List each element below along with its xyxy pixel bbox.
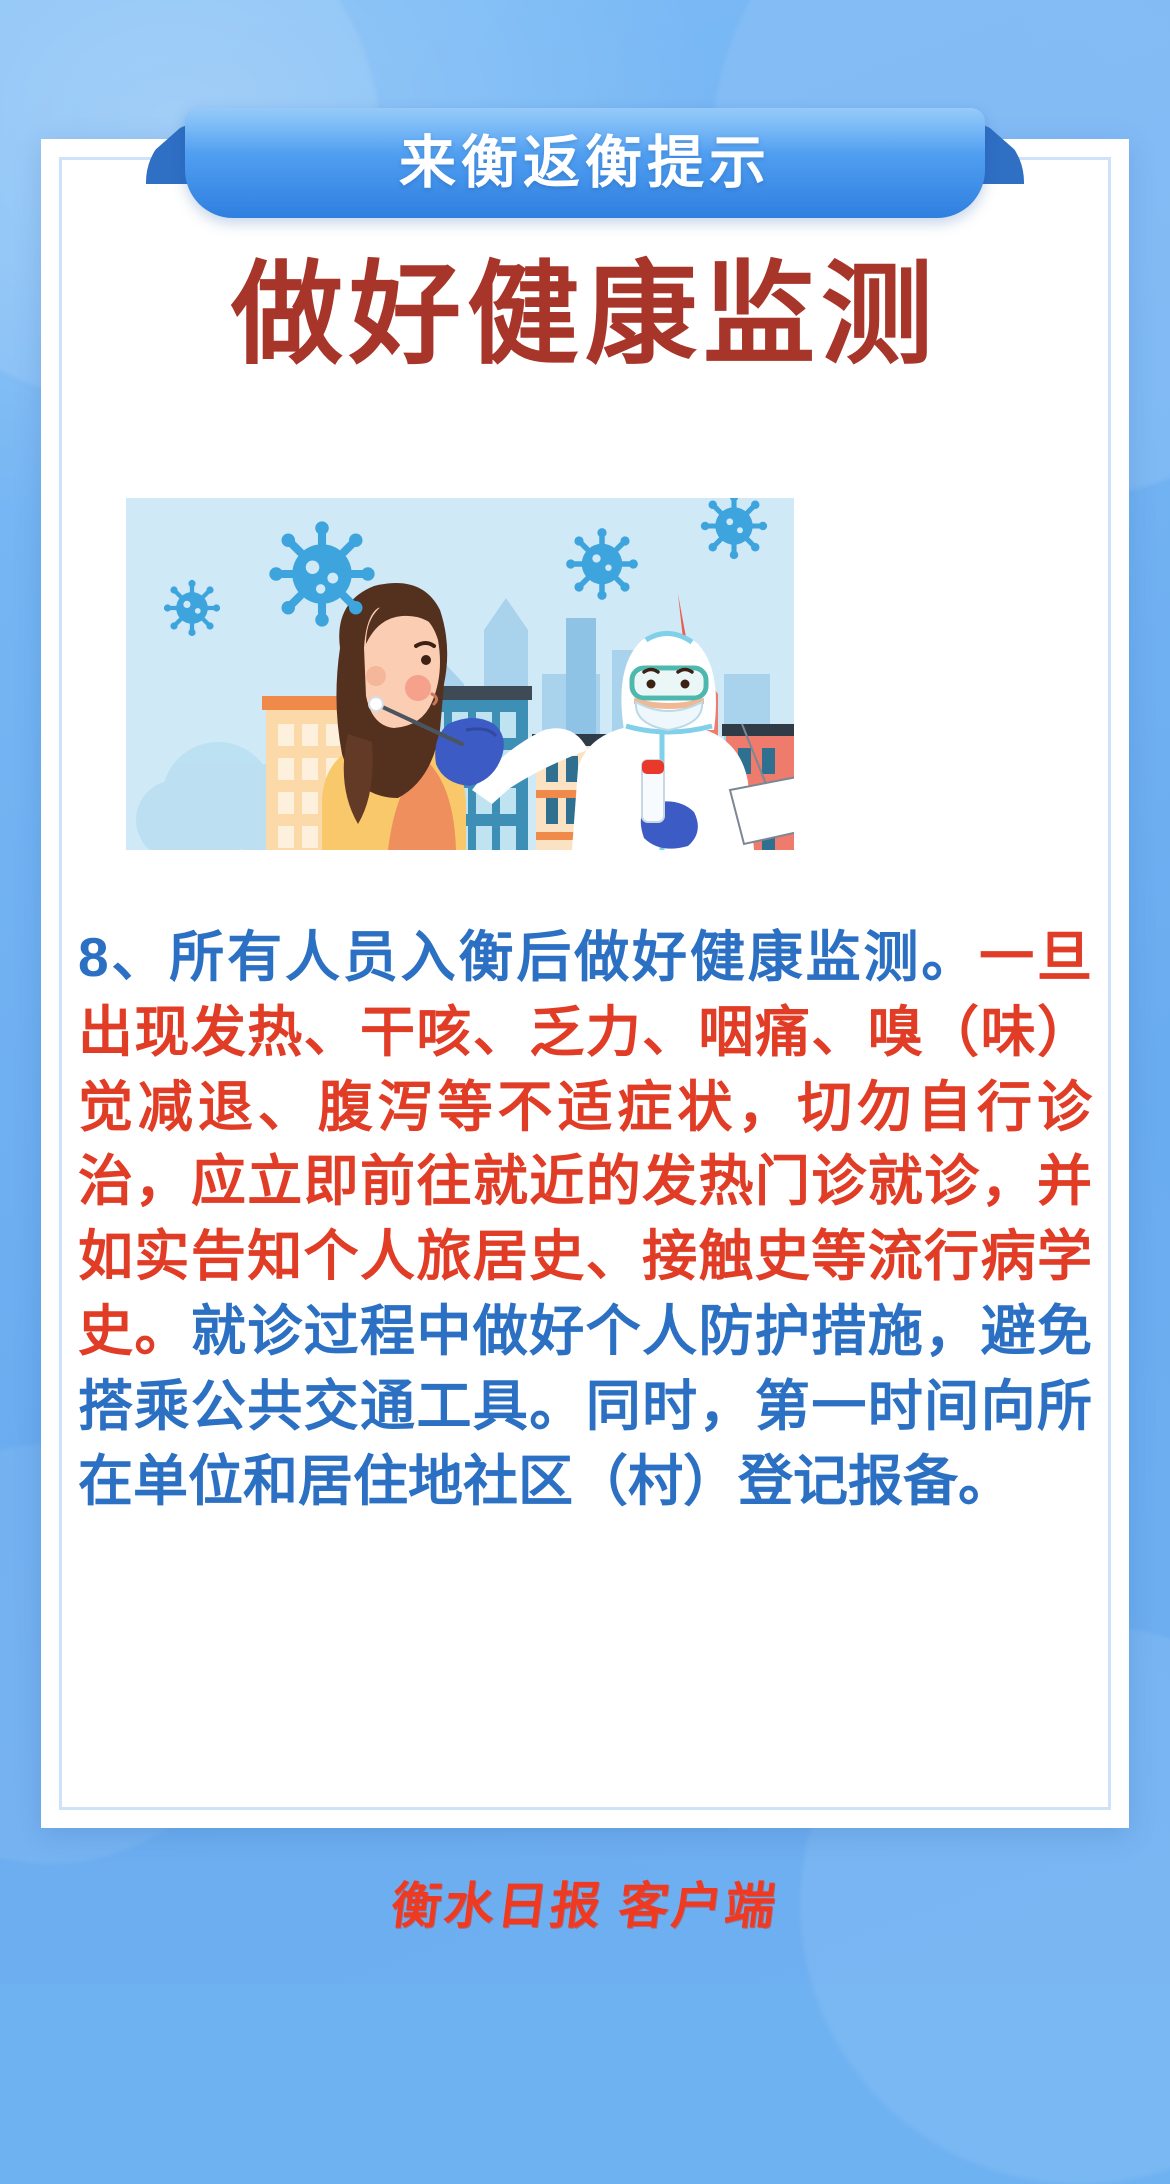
body-segment-red: 一旦出现发热、干咳、乏力、咽痛、嗅（味）觉减退、腹泻等不适症状，切勿自行诊治，应…: [78, 926, 1092, 1362]
ribbon-label: 来衡返衡提示: [399, 135, 771, 192]
ribbon-body: 来衡返衡提示: [185, 108, 985, 218]
body-paragraph: 8、所有人员入衡后做好健康监测。一旦出现发热、干咳、乏力、咽痛、嗅（味）觉减退、…: [78, 920, 1092, 1518]
footer-brand-logo: 衡水日报 客户端: [387, 1866, 782, 1938]
body-segment-blue-1: 8、所有人员入衡后做好健康监测。: [78, 926, 979, 988]
body-segment-blue-2: 就诊过程中做好个人防护措施，避免搭乘公共交通工具。同时，第一时间向所在单位和居住…: [78, 1300, 1092, 1512]
page-title: 做好健康监测: [0, 252, 1170, 377]
ribbon-banner: 来衡返衡提示: [0, 100, 1170, 225]
illustration-svg: [126, 498, 794, 850]
footer: 衡水日报 客户端: [0, 1866, 1170, 1938]
illustration: [126, 498, 794, 850]
